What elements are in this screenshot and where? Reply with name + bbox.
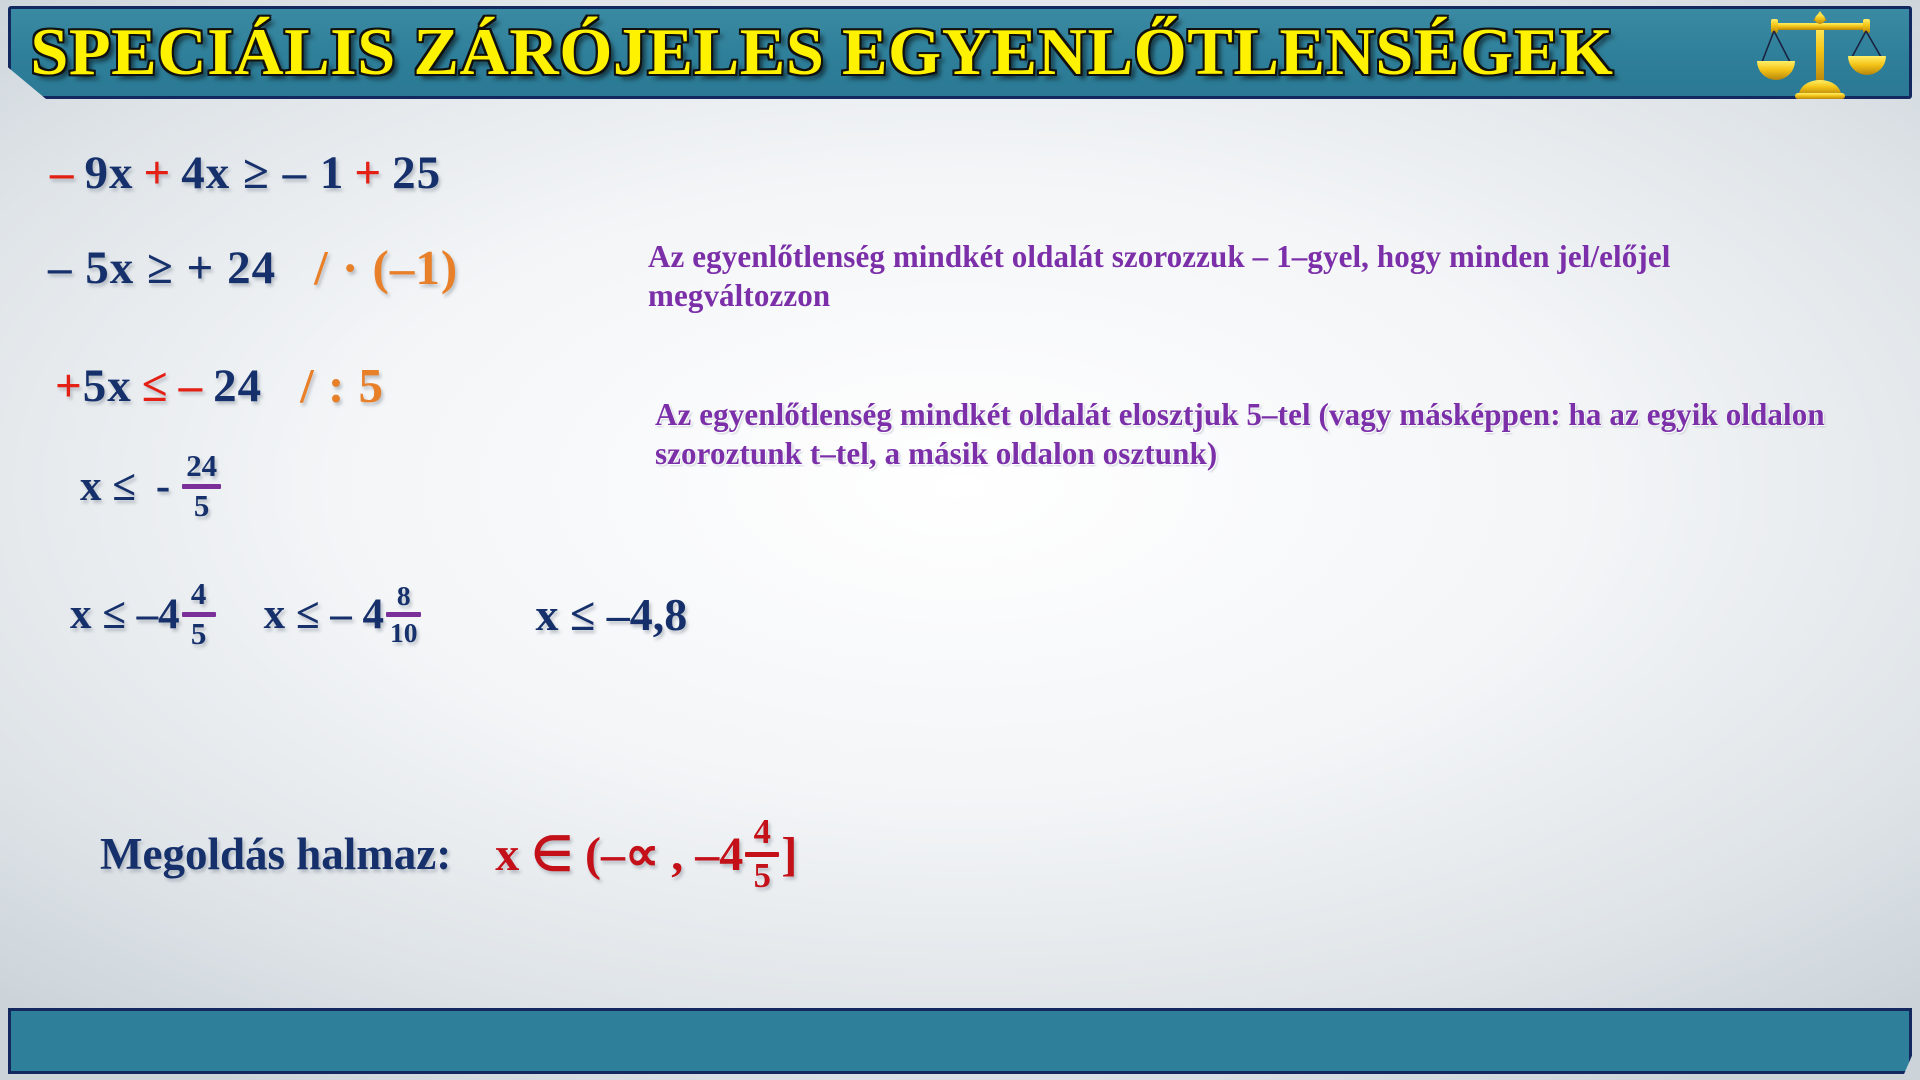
solution-prefix: x ∈ (–∝ , –4 [495,826,743,882]
fraction-numerator: 8 [393,582,415,612]
line4-lhs: x ≤ [80,462,136,511]
equation-line-4: x ≤ - 24 5 [80,451,223,522]
equation-line-5: x ≤ –4 4 5 x ≤ – 4 8 10 x ≤ –4,8 [70,579,687,650]
line1-plus-2: + [354,146,382,200]
fraction-8-10: 8 10 [386,582,422,646]
line2-operation: / · (–1) [314,239,458,296]
line4-sign: - [156,462,170,511]
line5c-decimal: x ≤ –4,8 [535,588,687,641]
solution-set: x ∈ (–∝ , –4 4 5 ] [495,815,797,893]
line5b-lhs: x ≤ – 4 [264,590,384,639]
slide-body: – 9x + 4x ≥ – 1 + 25 – 5x ≥ + 24 / · (–1… [0,99,1920,961]
solution-label: Megoldás halmaz: [100,828,451,880]
line3-minus: – [179,359,204,413]
slide-header: SPECIÁLIS ZÁRÓJELES EGYENLŐTLENSÉGEK [8,6,1912,99]
equation-line-3: + 5x ≤ – 24 / : 5 [55,357,384,414]
line5a-lhs: x ≤ –4 [70,590,180,639]
line3-rhs: 24 [213,359,262,413]
fraction-24-5: 24 5 [182,451,221,522]
fraction-4-5: 4 5 [182,579,216,650]
explanation-note-2: Az egyenlőtlenség mindkét oldalát eloszt… [655,395,1877,473]
balance-scale-icon [1745,7,1895,99]
fraction-numerator: 24 [182,451,221,484]
page-title: SPECIÁLIS ZÁRÓJELES EGYENLŐTLENSÉGEK [0,14,1762,91]
line1-plus-1: + [144,146,172,200]
solution-suffix: ] [781,827,797,882]
fraction-numerator: 4 [187,579,210,612]
line1-term-25: 25 [392,146,441,200]
line3-lhs: 5x [83,359,132,413]
solution-fraction-4-5: 4 5 [745,815,779,893]
fraction-denominator: 5 [190,489,213,522]
solution-line: Megoldás halmaz: x ∈ (–∝ , –4 4 5 ] [100,815,797,893]
equation-line-2: – 5x ≥ + 24 / · (–1) [48,239,458,296]
line2-expression: – 5x ≥ + 24 [48,241,276,295]
fraction-numerator: 4 [750,815,775,852]
line1-minus: – [50,146,75,200]
fraction-denominator: 10 [386,617,422,647]
line1-middle: 4x ≥ – 1 [181,146,344,200]
explanation-note-1: Az egyenlőtlenség mindkét oldalát szoroz… [648,237,1793,315]
line3-operation: / : 5 [300,357,384,414]
fraction-denominator: 5 [750,857,775,894]
fraction-denominator: 5 [187,617,210,650]
equation-line-1: – 9x + 4x ≥ – 1 + 25 [50,146,441,200]
slide-footer [8,1008,1912,1074]
line1-term-9x: 9x [85,146,134,200]
line3-plus: + [55,359,83,413]
line3-relation: ≤ [142,359,169,413]
